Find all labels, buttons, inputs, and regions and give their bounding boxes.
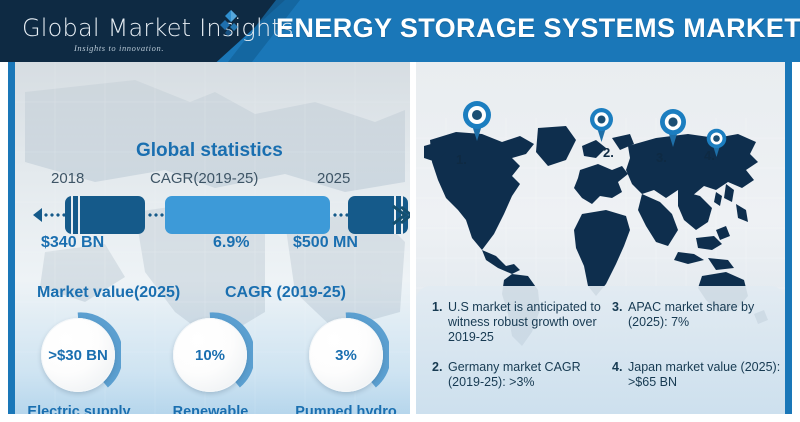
stat-label-2018: 2018 xyxy=(51,170,84,187)
donut-inner-1: >$30 BN xyxy=(41,318,115,392)
map-pin-label-4: 4. xyxy=(704,148,715,163)
diamond-cluster-icon xyxy=(219,10,241,36)
page-title: ENERGY STORAGE SYSTEMS MARKET xyxy=(276,13,800,44)
fact-item-2: 2. Germany market CAGR (2019-25): >3% xyxy=(432,360,604,390)
bar-left-arrow-icon xyxy=(33,208,42,222)
fact-text-3: APAC market share by (2025): 7% xyxy=(628,300,784,330)
donut-value-2: 10% xyxy=(195,347,225,364)
fact-item-4: 4. Japan market value (2025): >$65 BN xyxy=(612,360,784,390)
map-pin-icon-2 xyxy=(589,107,614,143)
fact-item-1: 1. U.S market is anticipated to witness … xyxy=(432,300,604,345)
donut-chart-electric-supply: >$30 BN xyxy=(35,312,121,398)
right-map-panel: 1. 2. 3. xyxy=(416,62,792,414)
facts-list-container: 1. U.S market is anticipated to witness … xyxy=(416,286,785,414)
fact-number-1: 1. xyxy=(432,300,442,315)
donut-chart-renewable-capacity: 10% xyxy=(167,312,253,398)
stat-value-2025: $500 MN xyxy=(293,234,358,252)
company-logo-text: Global Market Insights xyxy=(22,14,294,42)
bar-dots-left xyxy=(43,213,65,217)
stat-label-cagr: CAGR(2019-25) xyxy=(150,170,258,187)
statistics-bar-chart xyxy=(15,196,410,234)
fact-number-2: 2. xyxy=(432,360,442,375)
donut-chart-pumped-hydro: 3% xyxy=(303,312,389,398)
donut-inner-3: 3% xyxy=(309,318,383,392)
map-pin-1[interactable] xyxy=(462,100,492,147)
company-tagline: Insights to innovation. xyxy=(74,43,164,53)
map-pin-label-3: 3. xyxy=(656,150,667,165)
map-pin-2[interactable] xyxy=(589,107,614,148)
stat-value-2018: $340 BN xyxy=(41,234,104,252)
fact-item-3: 3. APAC market share by (2025): 7% xyxy=(612,300,784,330)
map-pin-label-2: 2. xyxy=(603,145,614,160)
map-pin-icon-3 xyxy=(659,108,687,148)
left-statistics-panel: Global statistics 2018 CAGR(2019-25) 202… xyxy=(8,62,410,414)
map-pin-label-1: 1. xyxy=(456,152,467,167)
donut-caption-3: Pumped hydro storage market xyxy=(287,404,405,414)
cagr-heading: CAGR (2019-25) xyxy=(225,284,346,302)
stat-label-2025: 2025 xyxy=(317,170,350,187)
donut-value-1: >$30 BN xyxy=(48,347,108,364)
fact-number-4: 4. xyxy=(612,360,622,375)
footer-strip xyxy=(0,414,800,422)
bar-segment-cagr xyxy=(165,196,330,234)
donut-inner-2: 10% xyxy=(173,318,247,392)
map-pin-3[interactable] xyxy=(659,108,687,153)
bar-right-chevron-icon xyxy=(387,204,410,226)
bar-dots-mid-2 xyxy=(332,213,348,217)
donut-caption-2: Renewable capacity firming application xyxy=(143,404,278,414)
donut-caption-1: Electric supply capacity application xyxy=(23,404,135,414)
bar-segment-2018 xyxy=(65,196,145,234)
fact-text-2: Germany market CAGR (2019-25): >3% xyxy=(448,360,604,390)
fact-text-1: U.S market is anticipated to witness rob… xyxy=(448,300,604,345)
fact-number-3: 3. xyxy=(612,300,622,315)
market-value-heading: Market value(2025) xyxy=(37,284,180,302)
fact-text-4: Japan market value (2025): >$65 BN xyxy=(628,360,784,390)
map-pin-icon-1 xyxy=(462,100,492,142)
infographic-root: Global Market Insights Insights to innov… xyxy=(0,0,800,422)
bar-dots-mid-1 xyxy=(147,213,165,217)
donut-value-3: 3% xyxy=(335,347,357,364)
global-statistics-heading: Global statistics xyxy=(136,140,283,162)
header-bar: Global Market Insights Insights to innov… xyxy=(0,0,800,62)
stat-value-cagr: 6.9% xyxy=(213,234,249,252)
